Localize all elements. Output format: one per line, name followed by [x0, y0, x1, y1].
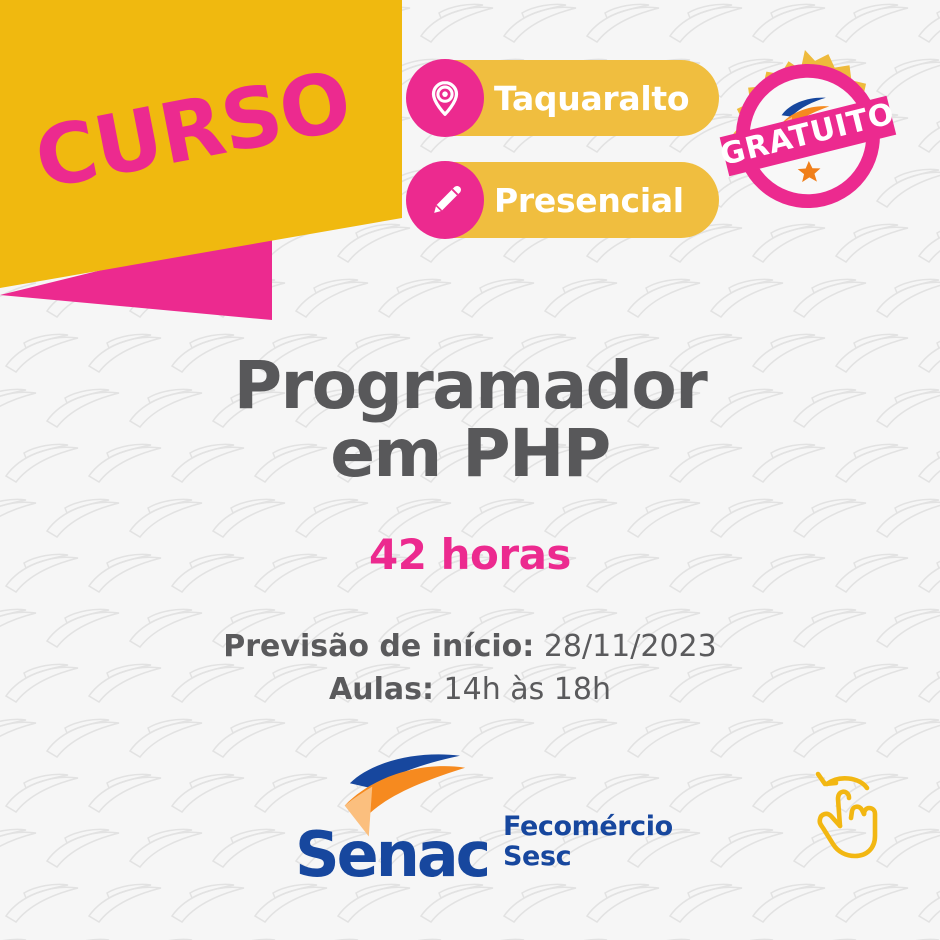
partner-line1: Fecomércio: [503, 812, 673, 842]
senac-logo: Senac Fecomércio Sesc: [295, 752, 673, 884]
ribbon-label: CURSO: [29, 59, 357, 201]
ribbon-label-wrap: CURSO: [0, 0, 405, 300]
course-title-line1: Programador: [0, 352, 940, 420]
badge-label: Presencial: [494, 181, 684, 220]
swipe-left-hand-icon[interactable]: [805, 766, 897, 864]
detail-value: 14h às 18h: [444, 672, 611, 707]
course-details: Previsão de início: 28/11/2023 Aulas: 14…: [0, 626, 940, 711]
course-title: Programador em PHP: [0, 352, 940, 488]
course-hours: 42 horas: [0, 530, 940, 579]
badge-label: Taquaralto: [494, 79, 689, 118]
detail-row-start-date: Previsão de início: 28/11/2023: [0, 626, 940, 669]
partner-line2: Sesc: [503, 842, 673, 872]
senac-wordmark-with-mark: Senac: [295, 752, 487, 884]
badge-presencial[interactable]: Presencial: [408, 162, 719, 238]
detail-label: Previsão de início:: [223, 629, 534, 664]
detail-label: Aulas:: [329, 672, 434, 707]
gratuito-seal: GRATUITO: [715, 45, 901, 231]
course-poster: CURSO Taquaralto: [0, 0, 940, 940]
detail-row-class-time: Aulas: 14h às 18h: [0, 669, 940, 712]
badge-list: Taquaralto Presencial: [408, 60, 719, 238]
partner-wordmark: Fecomércio Sesc: [503, 812, 673, 884]
detail-value: 28/11/2023: [544, 629, 717, 664]
course-title-line2: em PHP: [0, 420, 940, 488]
senac-wordmark-text: Senac: [295, 818, 487, 884]
pencil-icon: [406, 161, 484, 239]
location-pin-icon: [406, 59, 484, 137]
badge-taquaralto[interactable]: Taquaralto: [408, 60, 719, 136]
